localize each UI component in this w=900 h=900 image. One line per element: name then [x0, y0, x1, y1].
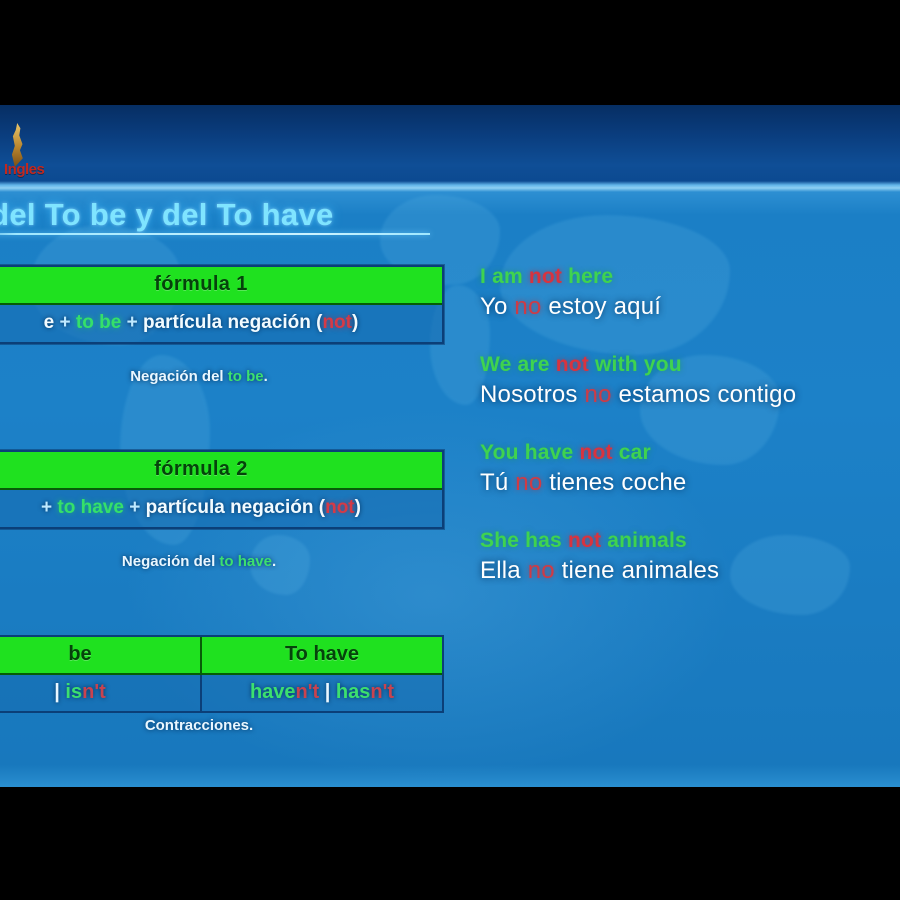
cell-right-verb-2: has [336, 681, 370, 703]
cell-right-neg-1: n't [296, 681, 320, 703]
example-2-spanish: Nosotros no estamos contigo [480, 381, 900, 409]
formula-1-header: fórmula 1 [0, 267, 442, 305]
example-4-es-before: Ella [480, 557, 528, 584]
cell-left-neg: n't [82, 681, 106, 703]
letterbox-bottom [0, 787, 900, 900]
example-4-en-after: animals [601, 529, 687, 552]
formula-2-middle: partícula negación ( [146, 497, 325, 518]
example-3-en-negation: not [579, 441, 612, 464]
formula-2-caption-highlight: to have [219, 553, 272, 570]
example-item-3: You have not car Tú no tienes coche [480, 441, 900, 497]
formula-1-caption-text: Negación del [130, 368, 228, 385]
formula-block-2: fórmula 2 + to have + partícula negación… [0, 450, 444, 529]
example-4-english: She has not animals [480, 529, 900, 553]
cell-to-have-contractions: haven't | hasn't [202, 675, 442, 711]
title-underline [0, 233, 430, 235]
example-4-spanish: Ella no tiene animales [480, 557, 900, 585]
example-2-es-negation: no [585, 381, 612, 408]
example-item-4: She has not animals Ella no tiene animal… [480, 529, 900, 585]
cell-left-separator: | [54, 681, 60, 703]
example-2-es-after: estamos contigo [612, 381, 797, 408]
logo-label: Ingles [4, 161, 44, 178]
formula-2-verb: to have [57, 497, 124, 518]
column-header-to-be: be [0, 637, 202, 673]
channel-logo: Ingles [4, 123, 82, 185]
page-title: n del To be y del To have [0, 197, 334, 233]
formula-2-header: fórmula 2 [0, 452, 442, 490]
contractions-table: be To have | isn't haven't | hasn't [0, 635, 444, 713]
example-1-en-negation: not [529, 265, 562, 288]
formula-1-particle: not [322, 312, 352, 333]
formula-1-caption-end: . [264, 368, 268, 385]
formula-1-caption: Negación del to be. [0, 368, 440, 385]
formula-2-body: + to have + partícula negación (not) [0, 490, 442, 527]
example-1-english: I am not here [480, 265, 900, 289]
column-header-to-have: To have [202, 637, 442, 673]
formula-1-verb: to be [76, 312, 121, 333]
example-1-en-before: I am [480, 265, 529, 288]
table-header-row: be To have [0, 637, 442, 675]
example-3-en-after: car [613, 441, 651, 464]
example-2-en-negation: not [556, 353, 589, 376]
cell-right-neg-2: n't [370, 681, 394, 703]
formula-2-caption: Negación del to have. [0, 553, 440, 570]
example-2-english: We are not with you [480, 353, 900, 377]
example-1-en-after: here [562, 265, 613, 288]
formula-2-plus-1: + [41, 497, 52, 518]
example-3-en-before: You have [480, 441, 579, 464]
letterbox-top [0, 0, 900, 105]
formula-2-caption-text: Negación del [122, 553, 220, 570]
formula-1-suffix: ) [352, 312, 358, 333]
examples-list: I am not here Yo no estoy aquí We are no… [480, 265, 900, 617]
example-1-es-after: estoy aquí [542, 293, 662, 320]
formula-1-body: e + to be + partícula negación (not) [0, 305, 442, 342]
example-2-en-before: We are [480, 353, 556, 376]
formula-2-suffix: ) [355, 497, 361, 518]
video-stage: Ingles n del To be y del To have fórmula… [0, 105, 900, 787]
formula-1-middle: partícula negación ( [143, 312, 322, 333]
example-1-es-negation: no [514, 293, 541, 320]
example-4-es-after: tiene animales [555, 557, 719, 584]
example-2-es-before: Nosotros [480, 381, 585, 408]
example-3-english: You have not car [480, 441, 900, 465]
formula-1-prefix: e [44, 312, 55, 333]
formula-2-caption-end: . [272, 553, 276, 570]
example-1-es-before: Yo [480, 293, 514, 320]
example-3-es-negation: no [515, 469, 542, 496]
formula-block-1: fórmula 1 e + to be + partícula negación… [0, 265, 444, 344]
example-1-spanish: Yo no estoy aquí [480, 293, 900, 321]
cell-right-verb-1: have [250, 681, 296, 703]
formula-1-plus-2: + [127, 312, 138, 333]
table-row: | isn't haven't | hasn't [0, 675, 442, 711]
example-3-es-before: Tú [480, 469, 515, 496]
cell-left-verb: is [65, 681, 82, 703]
cell-to-be-contractions: | isn't [0, 675, 202, 711]
example-4-en-before: She has [480, 529, 568, 552]
cell-right-separator: | [325, 681, 331, 703]
example-4-es-negation: no [528, 557, 555, 584]
contractions-caption: Contracciones. [0, 717, 440, 734]
formula-2-particle: not [325, 497, 355, 518]
example-2-en-after: with you [589, 353, 682, 376]
formula-1-plus-1: + [60, 312, 71, 333]
example-item-1: I am not here Yo no estoy aquí [480, 265, 900, 321]
formula-1-caption-highlight: to be [228, 368, 264, 385]
formula-2-plus-2: + [129, 497, 140, 518]
example-3-es-after: tienes coche [542, 469, 686, 496]
example-item-2: We are not with you Nosotros no estamos … [480, 353, 900, 409]
example-4-en-negation: not [568, 529, 601, 552]
example-3-spanish: Tú no tienes coche [480, 469, 900, 497]
